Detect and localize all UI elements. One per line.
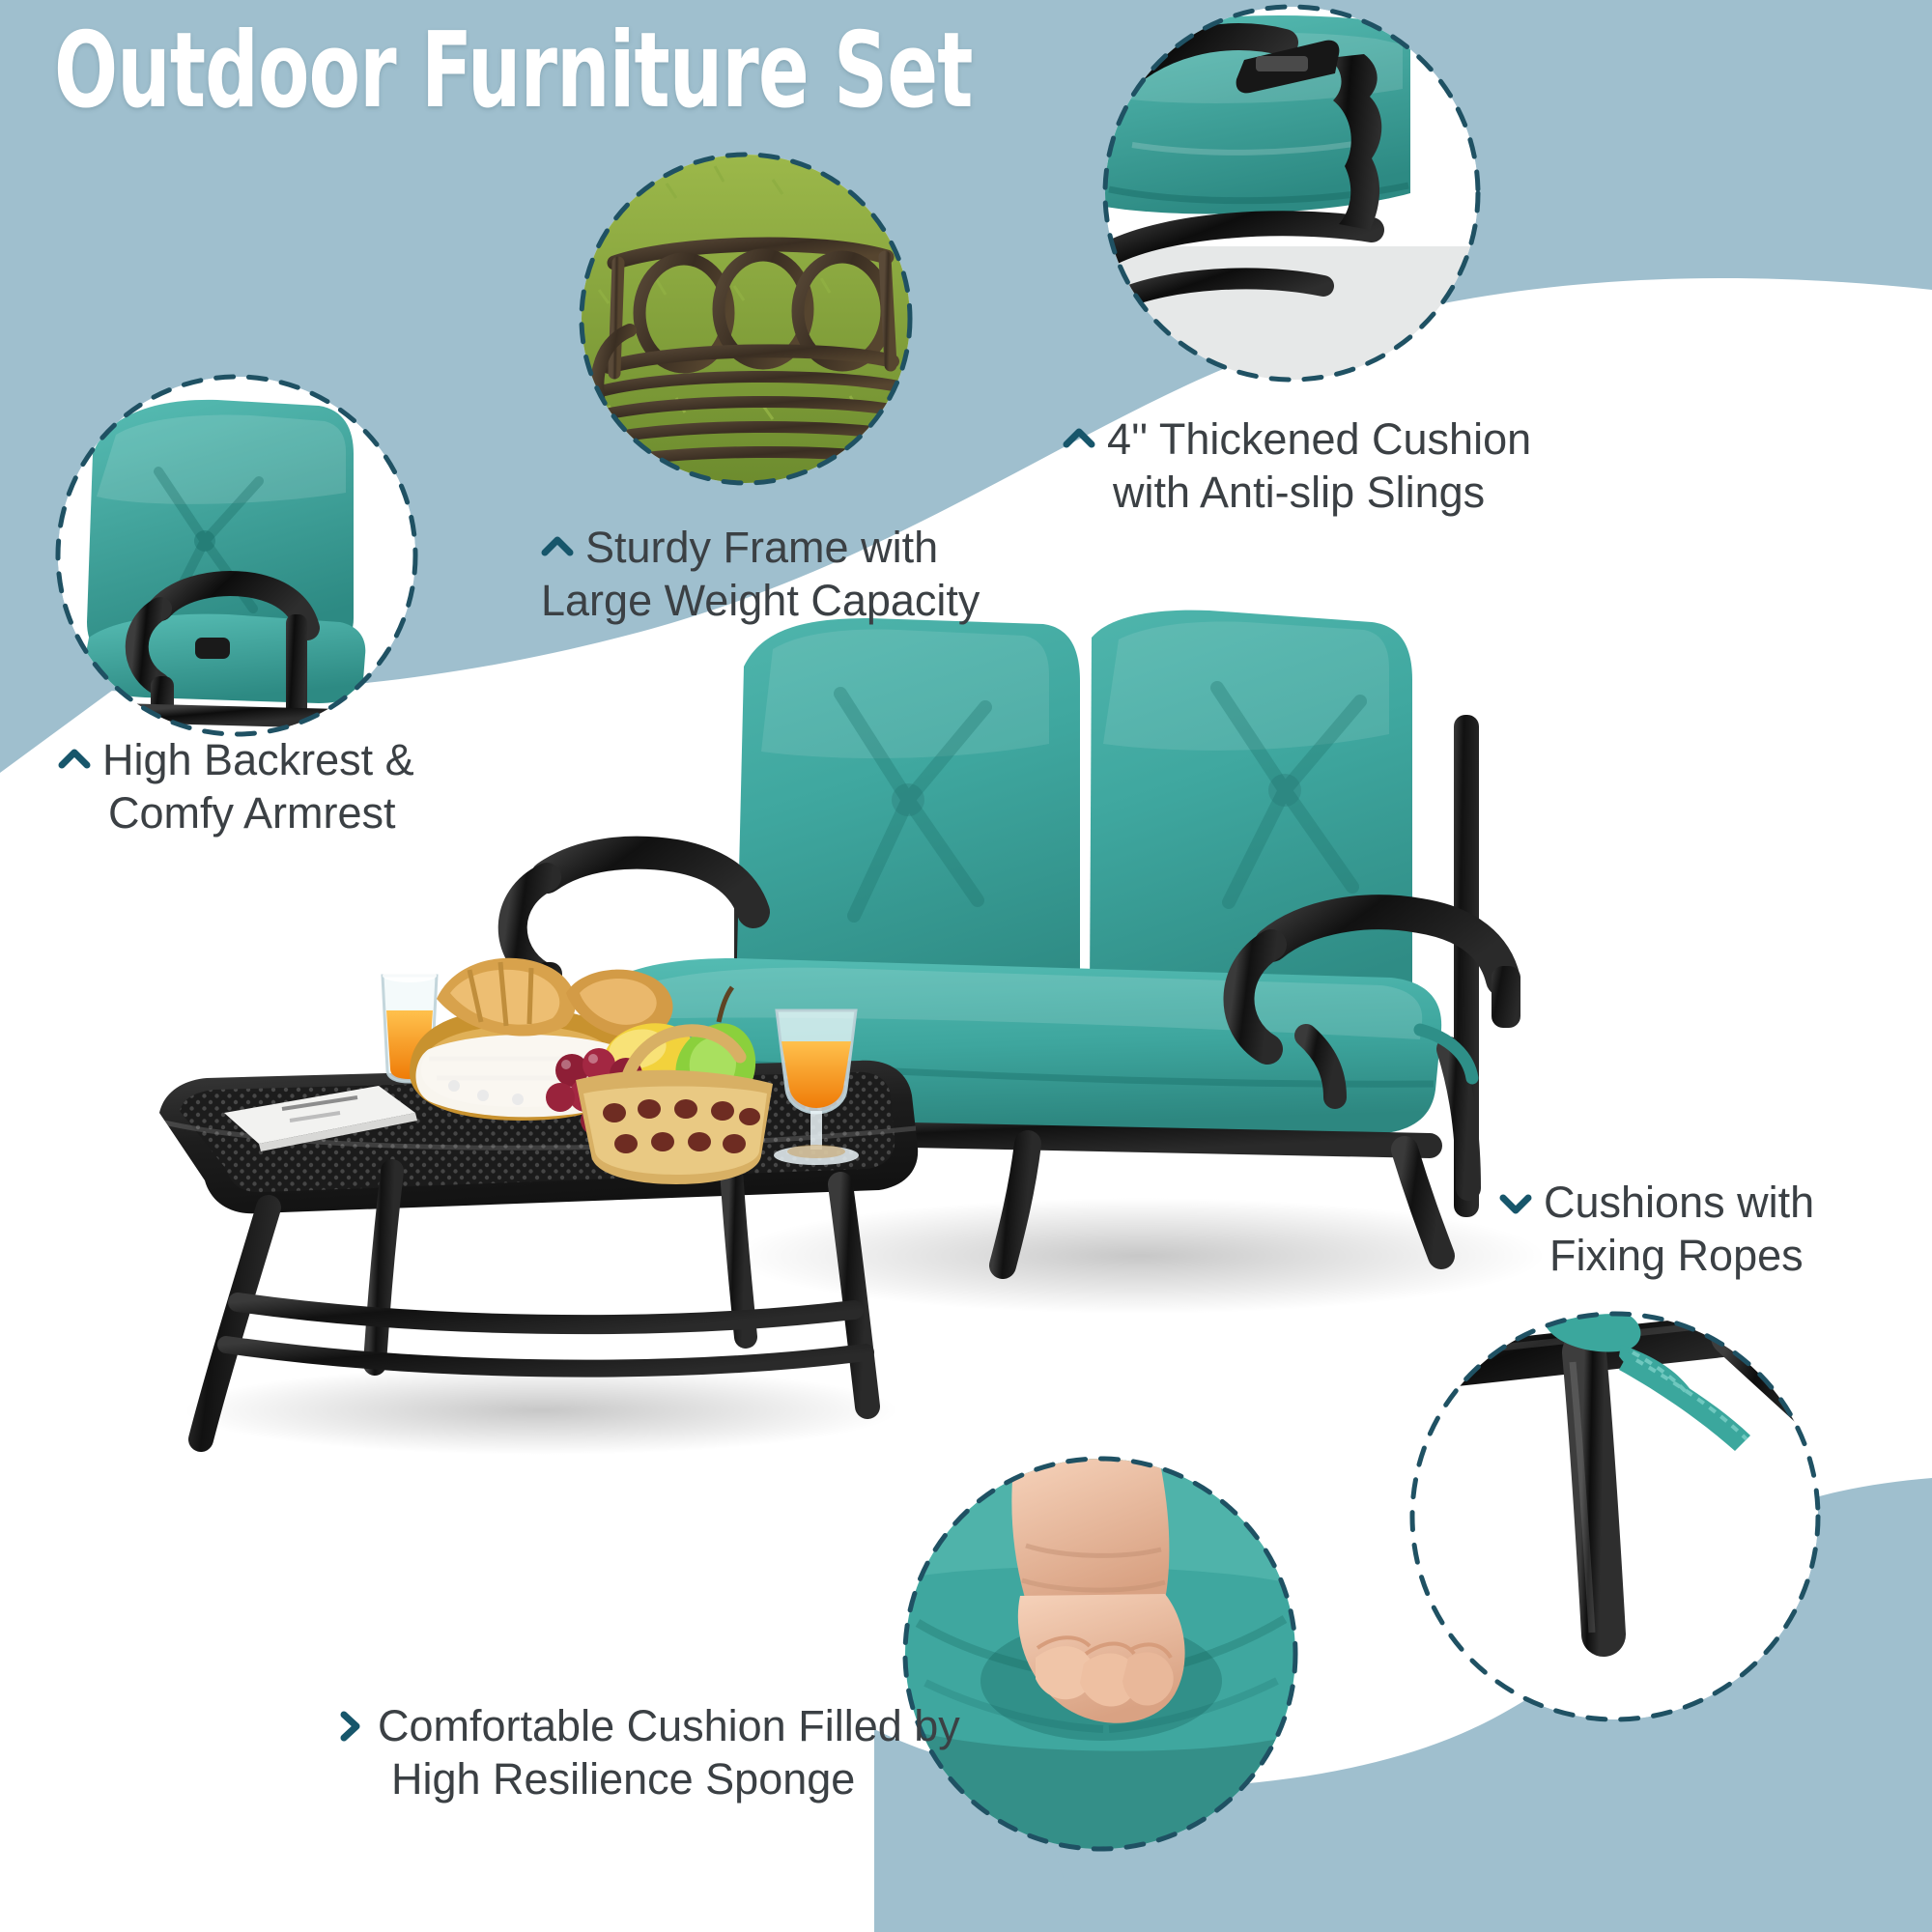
callout-circles xyxy=(0,0,1932,1932)
callout-label-line-1: Sturdy Frame with xyxy=(585,523,938,572)
callout-label-line-2: with Anti-slip Slings xyxy=(1063,467,1531,520)
chevron-right-icon xyxy=(333,1710,366,1743)
chevron-up-icon xyxy=(58,744,91,777)
callout-label-fixing-ropes: Cushions with Fixing Ropes xyxy=(1499,1177,1814,1283)
callout-label-line-1: Cushions with xyxy=(1544,1178,1814,1227)
infographic-canvas: Outdoor Furniture Set High Backrest & Co… xyxy=(0,0,1932,1932)
chevron-up-icon xyxy=(541,531,574,564)
callout-label-line-1: 4'' Thickened Cushion xyxy=(1107,414,1531,464)
callout-circle-resilience-sponge xyxy=(905,1449,1295,1849)
callout-label-sturdy-frame: Sturdy Frame with Large Weight Capacity xyxy=(541,522,980,628)
callout-circle-sturdy-frame xyxy=(582,155,910,483)
callout-label-line-2: High Resilience Sponge xyxy=(333,1753,960,1806)
chevron-down-icon xyxy=(1499,1186,1532,1219)
callout-label-resilience-sponge: Comfortable Cushion Filled by High Resil… xyxy=(333,1700,960,1806)
callout-label-line-2: Comfy Armrest xyxy=(58,787,414,840)
chevron-up-icon xyxy=(1063,423,1095,456)
callout-circle-high-backrest xyxy=(58,377,415,734)
callout-circle-fixing-ropes xyxy=(1412,1304,1820,1720)
callout-label-line-2: Large Weight Capacity xyxy=(541,575,980,628)
callout-label-high-backrest: High Backrest & Comfy Armrest xyxy=(58,734,414,840)
callout-label-line-2: Fixing Ropes xyxy=(1499,1230,1814,1283)
callout-label-line-1: High Backrest & xyxy=(102,735,414,784)
page-title: Outdoor Furniture Set xyxy=(54,19,973,124)
callout-circle-thickened-cushion xyxy=(1105,7,1478,380)
callout-label-line-1: Comfortable Cushion Filled by xyxy=(378,1701,960,1750)
callout-label-thickened-cushion: 4'' Thickened Cushion with Anti-slip Sli… xyxy=(1063,413,1531,520)
